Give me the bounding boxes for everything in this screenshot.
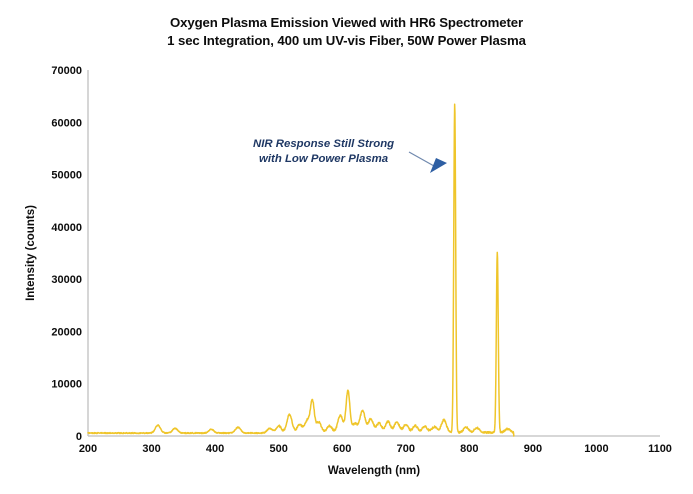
x-tick-label: 500 <box>269 443 287 455</box>
x-axis-title: Wavelength (nm) <box>328 465 420 477</box>
x-tick-label: 400 <box>206 443 224 455</box>
y-axis-tick-labels: 010000200003000040000500006000070000 <box>51 65 82 443</box>
y-axis-title: Intensity (counts) <box>25 205 37 301</box>
x-tick-label: 200 <box>79 443 97 455</box>
nir-annotation-line1: NIR Response Still Strong <box>253 138 394 150</box>
x-tick-label: 1100 <box>648 443 672 455</box>
x-tick-label: 700 <box>397 443 415 455</box>
y-tick-label: 50000 <box>51 170 82 182</box>
y-tick-label: 40000 <box>51 222 82 234</box>
y-tick-label: 10000 <box>51 379 82 391</box>
y-tick-label: 60000 <box>51 117 82 129</box>
y-tick-label: 0 <box>76 431 82 443</box>
y-tick-label: 70000 <box>51 65 82 77</box>
nir-annotation-line2: with Low Power Plasma <box>259 153 388 165</box>
plot-area: 010000200003000040000500006000070000 200… <box>0 0 693 494</box>
y-tick-label: 20000 <box>51 326 82 338</box>
x-tick-label: 300 <box>142 443 160 455</box>
y-tick-label: 30000 <box>51 274 82 286</box>
x-tick-label: 900 <box>524 443 542 455</box>
x-tick-label: 1000 <box>584 443 608 455</box>
x-tick-label: 800 <box>460 443 478 455</box>
x-axis-tick-labels: 20030040050060070080090010001100 <box>79 443 672 455</box>
annotation-leader-line <box>409 152 434 166</box>
nir-annotation: NIR Response Still Strong with Low Power… <box>253 138 447 173</box>
x-tick-label: 600 <box>333 443 351 455</box>
spectrum-chart-figure: Oxygen Plasma Emission Viewed with HR6 S… <box>0 0 693 494</box>
